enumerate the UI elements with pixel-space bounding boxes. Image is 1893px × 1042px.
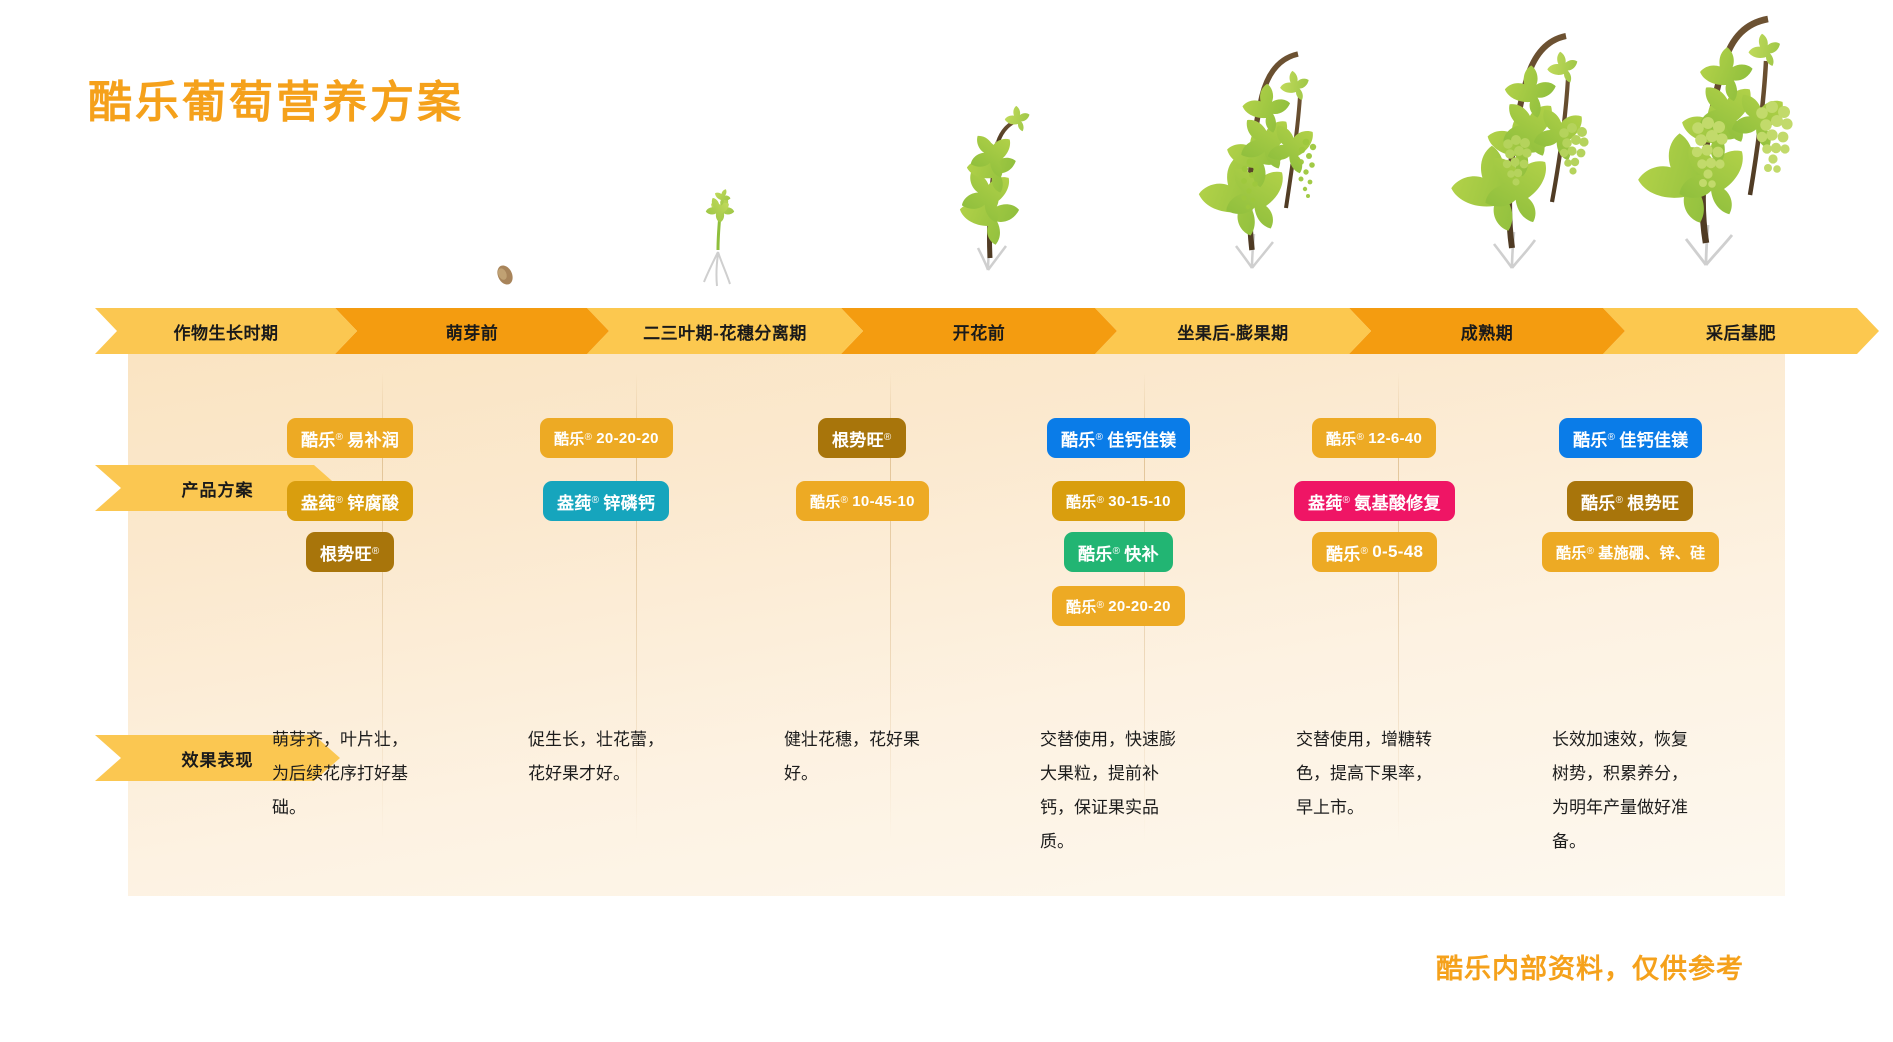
effect-text: 交替使用，增糖转色，提高下果率，早上市。: [1296, 723, 1446, 825]
effect-text: 长效加速效，恢复树势，积累养分，为明年产量做好准备。: [1552, 723, 1702, 859]
stage-header-5: 成熟期: [1349, 308, 1625, 354]
stage-header-6: 采后基肥: [1603, 308, 1879, 354]
stage-header-bar: 作物生长时期萌芽前二三叶期-花穗分离期开花前坐果后-膨果期成熟期采后基肥: [95, 308, 1795, 354]
product-pill[interactable]: 盎莼®锌磷钙: [543, 481, 669, 521]
product-pill[interactable]: 酷乐®10-45-10: [796, 481, 929, 521]
product-pill[interactable]: 酷乐®快补: [1064, 532, 1173, 572]
product-pill[interactable]: 酷乐®20-20-20: [1052, 586, 1185, 626]
stage-header-3: 开花前: [841, 308, 1117, 354]
product-pill[interactable]: 酷乐®20-20-20: [540, 418, 673, 458]
product-pill[interactable]: 酷乐®基施硼、锌、硅: [1542, 532, 1719, 572]
effect-text: 萌芽齐，叶片壮，为后续花序打好基础。: [272, 723, 422, 825]
product-pill[interactable]: 根势旺®: [306, 532, 394, 572]
product-pill[interactable]: 酷乐®30-15-10: [1052, 481, 1185, 521]
product-pill[interactable]: 酷乐®12-6-40: [1312, 418, 1436, 458]
stage-header-4: 坐果后-膨果期: [1095, 308, 1371, 354]
illustration-seed: [494, 263, 515, 287]
product-pill[interactable]: 酷乐®根势旺: [1567, 481, 1693, 521]
product-pill[interactable]: 酷乐®易补润: [287, 418, 413, 458]
stage-header-0: 作物生长时期: [95, 308, 357, 354]
illustration-fruiting-vine: [1442, 36, 1588, 268]
stage-header-2: 二三叶期-花穗分离期: [587, 308, 863, 354]
effect-text: 促生长，壮花蕾，花好果才好。: [528, 723, 678, 791]
illustration-mature-grape-vine: [1628, 19, 1793, 265]
product-pill[interactable]: 酷乐®佳钙佳镁: [1047, 418, 1190, 458]
product-pill[interactable]: 酷乐®0-5-48: [1312, 532, 1437, 572]
plant-illustrations: [0, 0, 1893, 352]
stage-header-1: 萌芽前: [335, 308, 609, 354]
product-pill[interactable]: 盎莼®锌腐酸: [287, 481, 413, 521]
footer-note: 酷乐内部资料，仅供参考: [1436, 947, 1744, 986]
product-pill[interactable]: 根势旺®: [818, 418, 906, 458]
effect-text: 健壮花穗，花好果好。: [784, 723, 934, 791]
illustration-flowering-vine: [1191, 54, 1319, 268]
illustration-young-vine: [955, 102, 1034, 270]
product-pill[interactable]: 盎莼®氨基酸修复: [1294, 481, 1455, 521]
illustration-seedling: [704, 189, 734, 286]
effect-text: 交替使用，快速膨大果粒，提前补钙，保证果实品质。: [1040, 723, 1190, 859]
product-pill[interactable]: 酷乐®佳钙佳镁: [1559, 418, 1702, 458]
